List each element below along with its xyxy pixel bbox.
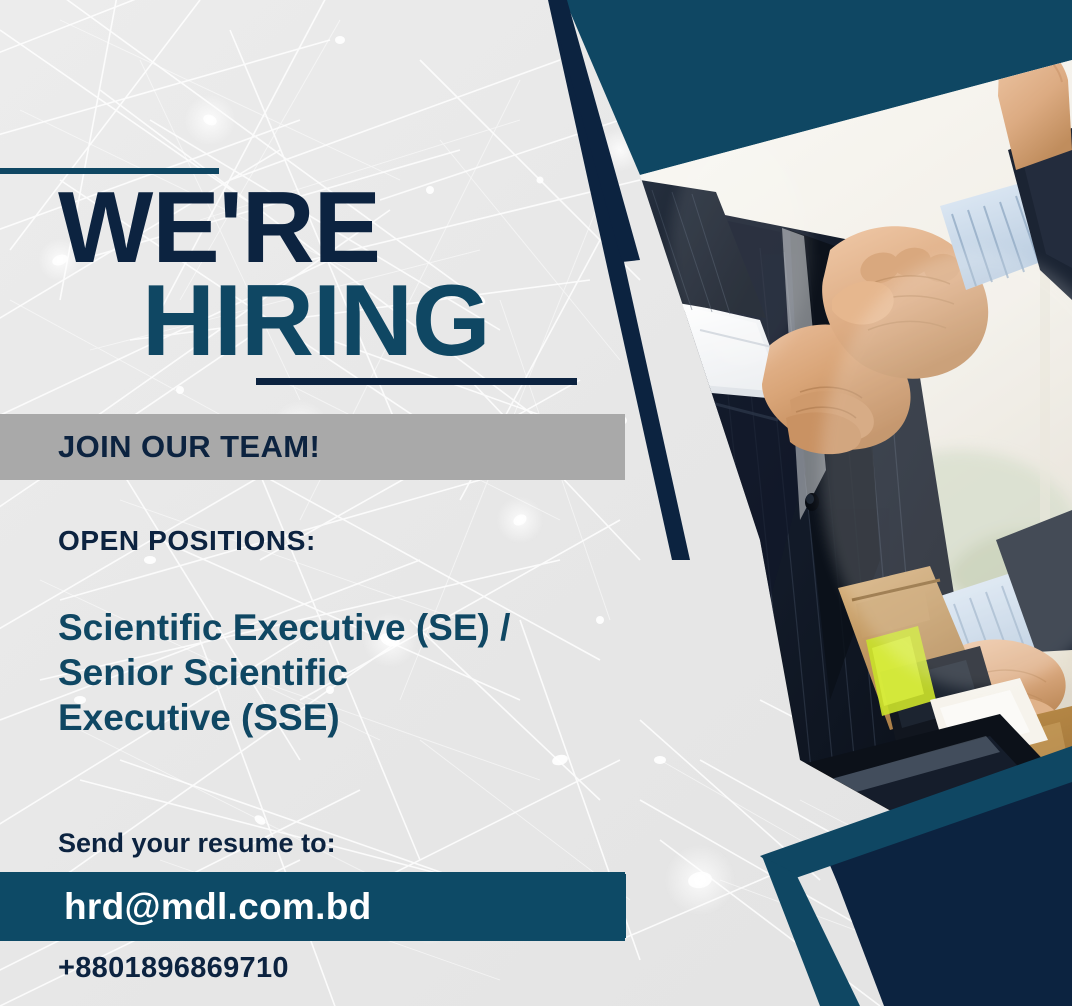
open-positions-label: OPEN POSITIONS:	[58, 525, 316, 557]
headline-were: WE'RE	[58, 182, 658, 275]
position-line: Senior Scientific	[58, 650, 618, 695]
phone-number[interactable]: +8801896869710	[58, 952, 289, 985]
send-resume-label: Send your resume to:	[58, 828, 336, 859]
join-our-team-text: JOIN OUR TEAM!	[0, 429, 320, 465]
hiring-poster: WE'RE HIRING JOIN OUR TEAM! OPEN POSITIO…	[0, 0, 1072, 1006]
join-our-team-banner: JOIN OUR TEAM!	[0, 414, 625, 480]
headline-group: WE'RE HIRING	[58, 182, 658, 368]
email-bar[interactable]: hrd@mdl.com.bd	[0, 872, 625, 941]
position-line: Scientific Executive (SE) /	[58, 605, 618, 650]
poster-content: WE'RE HIRING JOIN OUR TEAM! OPEN POSITIO…	[0, 0, 660, 1006]
email-address[interactable]: hrd@mdl.com.bd	[0, 886, 372, 928]
open-positions-list: Scientific Executive (SE) / Senior Scien…	[58, 605, 618, 740]
position-line: Executive (SSE)	[58, 695, 618, 740]
headline-underline-rule	[256, 378, 577, 385]
headline-hiring: HIRING	[58, 275, 658, 368]
